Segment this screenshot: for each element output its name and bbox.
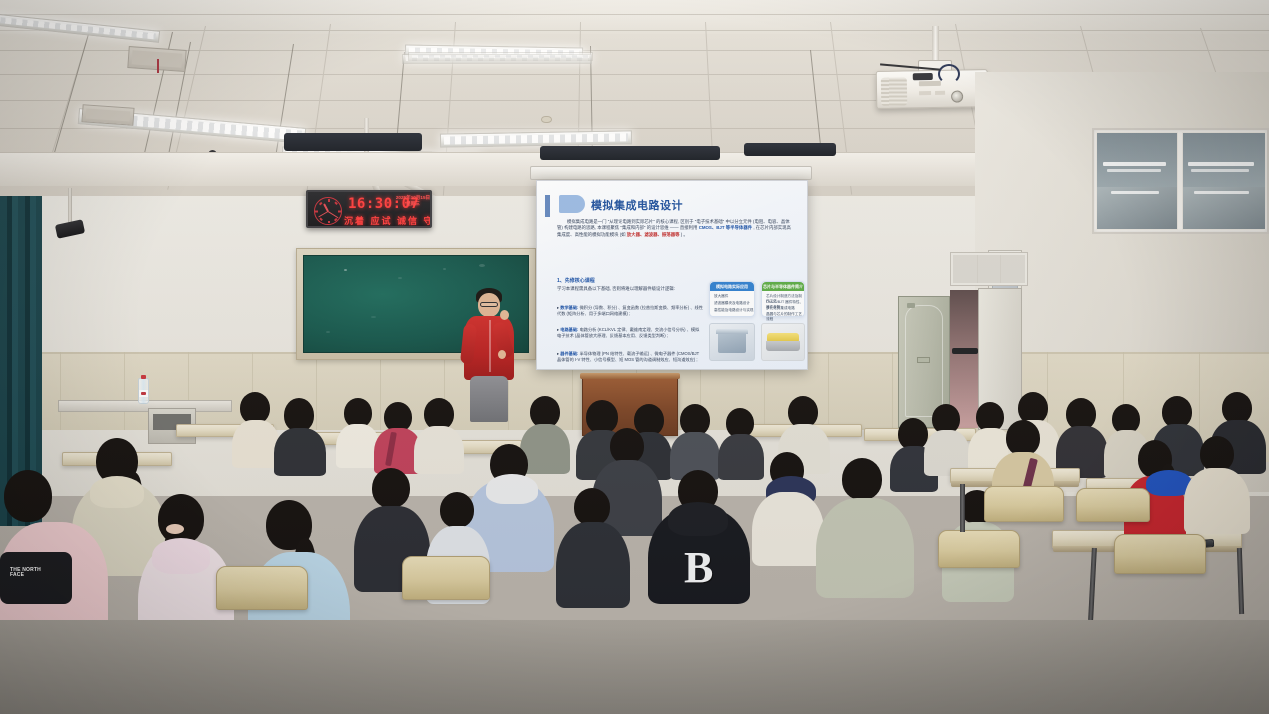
student-head xyxy=(372,468,410,508)
slide-bullet-label: 电路基础: xyxy=(560,327,578,332)
seat-back xyxy=(1114,534,1206,574)
projector-vent xyxy=(881,77,907,105)
slide-card-left: 模拟电路实际应用 放大器件 滤波器模块及电路设计 高性能及电路设计与实现 xyxy=(709,281,755,317)
projector-lens xyxy=(951,90,963,102)
led-weekday-value: 星期三 xyxy=(394,202,432,207)
student-head xyxy=(1006,420,1040,456)
hoodie-hood xyxy=(90,476,144,508)
projector-cable xyxy=(938,64,960,84)
hoodie-hood xyxy=(152,538,210,574)
seat-back xyxy=(938,530,1020,568)
lecturer xyxy=(456,288,528,418)
student-torso xyxy=(752,492,824,566)
slide-card-right-header: 芯片与半导体器件简介 xyxy=(762,282,804,291)
student-head xyxy=(4,470,52,522)
ceiling-air-vent xyxy=(81,104,134,126)
slide-title-chip xyxy=(559,195,585,213)
water-bottle xyxy=(138,378,149,404)
ceiling-light-fixture xyxy=(408,52,593,61)
student-head xyxy=(610,428,644,464)
slide-bullet-text: 微积分 (导数、积分) 、复变函数 (拉普拉斯变换、频率分析) 、线性代数 (矩… xyxy=(557,305,703,316)
student-torso xyxy=(274,428,326,476)
student-torso xyxy=(816,498,914,598)
window-pane xyxy=(1182,132,1266,230)
led-clock-sign: 16:30:07 2025年10月15日 星期三 沉着 应试 诚信 守纪 xyxy=(306,190,432,228)
slide-section-subtitle: 学习本课程需具备以下基础, 否则将难以理解器件级设计逻辑: xyxy=(557,286,707,292)
slide-bullet-text: 电路分析 (KCL/KVL 定律、戴维南定理、交流小信号分析) 、模拟电子技术 … xyxy=(557,327,699,338)
speaker-bar xyxy=(284,133,422,151)
projector xyxy=(876,69,989,109)
student-torso xyxy=(718,434,764,480)
projector-screen-housing xyxy=(530,166,812,180)
slide-intro-end: ) 。 xyxy=(681,232,688,237)
slide-accent-bar xyxy=(545,195,550,217)
student-head xyxy=(1200,436,1234,472)
desk-leg xyxy=(960,484,965,532)
seat-back xyxy=(1076,488,1150,522)
student-head xyxy=(574,488,610,526)
desk-leg xyxy=(1088,548,1097,620)
student-head xyxy=(440,492,474,528)
desk-leg xyxy=(1237,548,1244,614)
speaker-arm xyxy=(68,188,72,224)
student-head xyxy=(842,458,882,500)
slide-bullet-text: 半导体物理 (PN 结特性、载流子输运) 、微电子器件 (CMOS/BJT 晶体… xyxy=(557,351,699,362)
slide-title: 模拟集成电路设计 xyxy=(591,197,683,213)
led-date: 2025年10月15日 星期三 xyxy=(394,196,432,207)
lecturer-hand xyxy=(498,350,506,359)
door-transom-window xyxy=(950,252,1028,286)
seat-back xyxy=(402,556,490,600)
hoodie-graphic-logo: B xyxy=(684,542,713,593)
slide-card-left-item: 滤波器模块及电路设计 xyxy=(714,301,750,306)
slide-card-right-item: 多元化的集成电路 xyxy=(766,306,795,311)
seat-back xyxy=(216,566,308,610)
slide-bullet: ▸ 器件基础: 半导体物理 (PN 结特性、载流子输运) 、微电子器件 (CMO… xyxy=(557,351,703,363)
presentation-slide: 模拟集成电路设计 模拟集成电路是一门 "从理论电路到实际芯片" 的核心课程, 区… xyxy=(537,181,807,369)
slide-image-wafer xyxy=(761,323,805,361)
student-head xyxy=(284,398,314,432)
slide-bullet: ▸ 数学基础: 微积分 (导数、积分) 、复变函数 (拉普拉斯变换、频率分析) … xyxy=(557,305,703,317)
hoodie-hood xyxy=(486,474,538,504)
slide-bullet-label: 器件基础: xyxy=(560,351,578,356)
slide-intro-highlight-red: 放大器、滤波器、振荡器等 xyxy=(627,232,680,237)
student-torso xyxy=(232,420,280,468)
north-face-logo: THE NORTH FACE xyxy=(10,568,52,579)
speaker-bar xyxy=(744,143,836,156)
seat-back xyxy=(984,486,1064,522)
projector-screen[interactable]: 模拟集成电路设计 模拟集成电路是一门 "从理论电路到实际芯片" 的核心课程, 区… xyxy=(536,180,808,370)
doorway-handrail xyxy=(952,348,978,354)
speaker-bar xyxy=(540,146,720,160)
lecturer-glasses xyxy=(480,302,498,307)
sprinkler-head xyxy=(157,59,159,73)
clock-icon xyxy=(314,197,342,225)
slide-card-left-header: 模拟电路实际应用 xyxy=(710,282,754,291)
smoke-detector xyxy=(541,116,552,123)
student-torso xyxy=(556,522,630,608)
floor xyxy=(0,620,1269,714)
slide-image-chip xyxy=(709,323,755,361)
slide-section-heading: 1、先修核心课程 xyxy=(557,277,595,284)
slide-card-right: 芯片与半导体器件简介 芯片设计制造方法及制作工艺 CMOS/BJT 器件特性、器… xyxy=(761,281,805,317)
led-motto: 沉着 应试 诚信 守纪 xyxy=(344,214,432,227)
slide-bullet: ▸ 电路基础: 电路分析 (KCL/KVL 定律、戴维南定理、交流小信号分析) … xyxy=(557,327,703,339)
hoodie-hood xyxy=(668,502,728,536)
slide-bullet-label: 数学基础: xyxy=(560,305,578,310)
slide-intro-paragraph: 模拟集成电路是一门 "从理论电路到实际芯片" 的核心课程, 区别于 "电子技术基… xyxy=(557,219,793,238)
window xyxy=(1092,128,1269,234)
lecturer-jacket-zipper xyxy=(489,320,491,372)
student-head xyxy=(586,400,618,434)
classroom-photo: 模拟集成电路设计 模拟集成电路是一门 "从理论电路到实际芯片" 的核心课程, 区… xyxy=(0,0,1269,714)
slide-card-left-item: 放大器件 xyxy=(714,294,728,299)
lecturer-trousers xyxy=(470,376,508,422)
lecturer-hand xyxy=(500,310,509,320)
window-pane xyxy=(1096,132,1178,230)
student-torso xyxy=(414,426,464,474)
slide-intro-highlight-blue: CMOS、BJT 等半导体器件 xyxy=(699,225,752,230)
hair-scrunchie xyxy=(166,524,184,534)
slide-card-right-item: 晶圆与芯片的制作工艺流程 xyxy=(766,312,804,323)
slide-card-left-item: 高性能及电路设计与实现 xyxy=(714,308,754,313)
student-torso xyxy=(1184,468,1250,534)
